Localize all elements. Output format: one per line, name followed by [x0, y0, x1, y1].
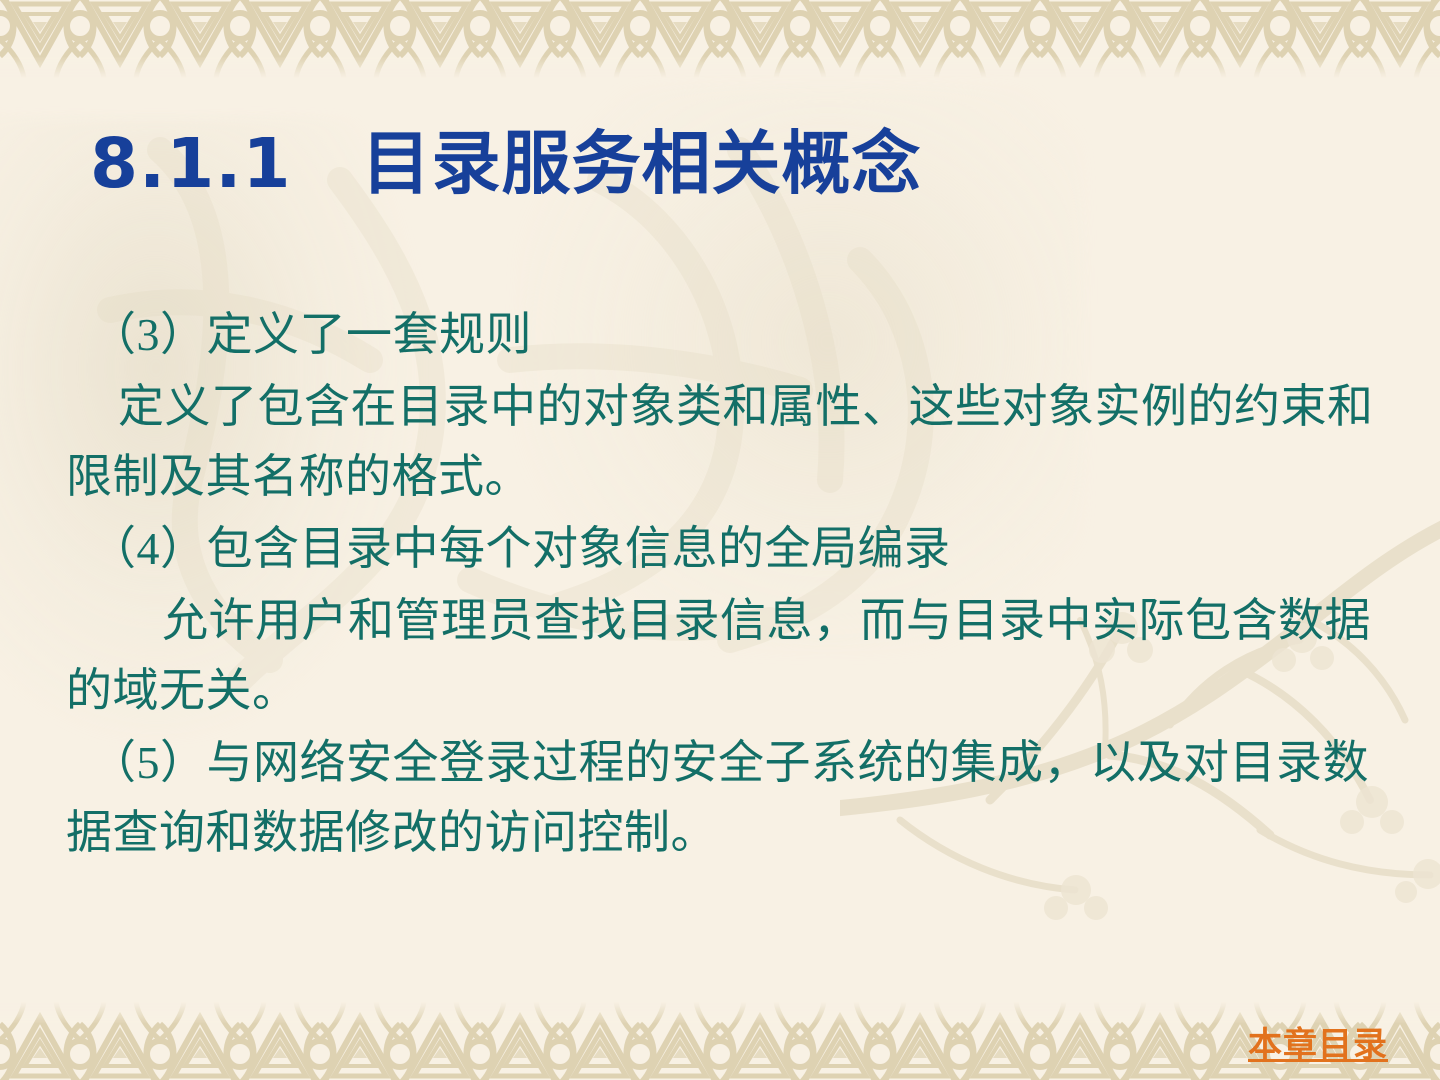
top-decorative-border — [0, 0, 1440, 78]
body-paragraph-5: （5）与网络安全登录过程的安全子系统的集成，以及对目录数据查询和数据修改的访问控… — [66, 728, 1396, 868]
presentation-slide: 8.1.1 目录服务相关概念 （3）定义了一套规则 定义了包含在目录中的对象类和… — [0, 0, 1440, 1080]
body-paragraph-3: （3）定义了一套规则 — [66, 300, 1396, 370]
chapter-toc-link[interactable]: 本章目录 — [1248, 1017, 1388, 1066]
slide-body: （3）定义了一套规则 定义了包含在目录中的对象类和属性、这些对象实例的约束和限制… — [66, 300, 1396, 870]
body-paragraph-3-detail: 定义了包含在目录中的对象类和属性、这些对象实例的约束和限制及其名称的格式。 — [66, 372, 1396, 512]
bottom-decorative-border — [0, 1002, 1440, 1080]
slide-title: 8.1.1 目录服务相关概念 — [90, 128, 921, 200]
body-paragraph-4-detail: 允许用户和管理员查找目录信息，而与目录中实际包含数据的域无关。 — [66, 586, 1396, 726]
body-paragraph-4: （4）包含目录中每个对象信息的全局编录 — [66, 514, 1396, 584]
